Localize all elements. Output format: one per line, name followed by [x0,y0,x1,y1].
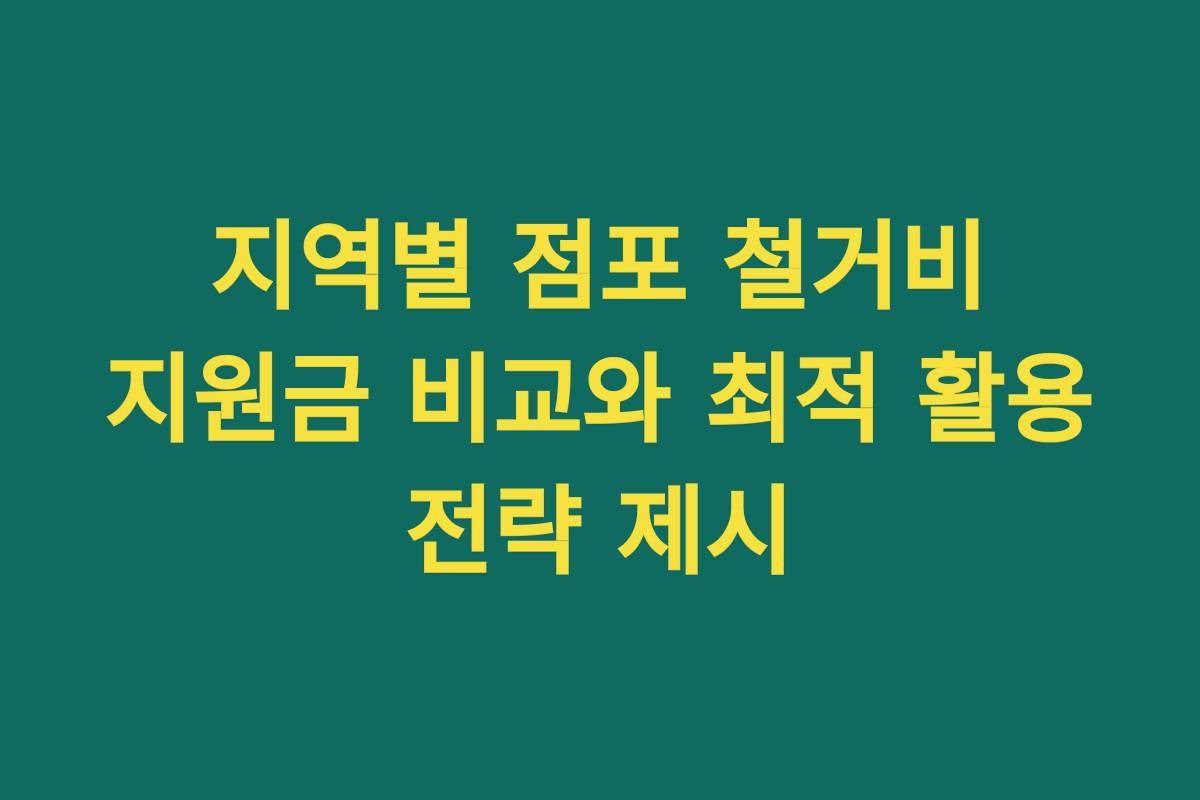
page-title: 지역별 점포 철거비 지원금 비교와 최적 활용 전략 제시 [95,201,1105,598]
page-title-text: 지역별 점포 철거비 지원금 비교와 최적 활용 전략 제시 [105,211,1095,588]
thumbnail-canvas: 지역별 점포 철거비 지원금 비교와 최적 활용 전략 제시 [0,0,1200,800]
